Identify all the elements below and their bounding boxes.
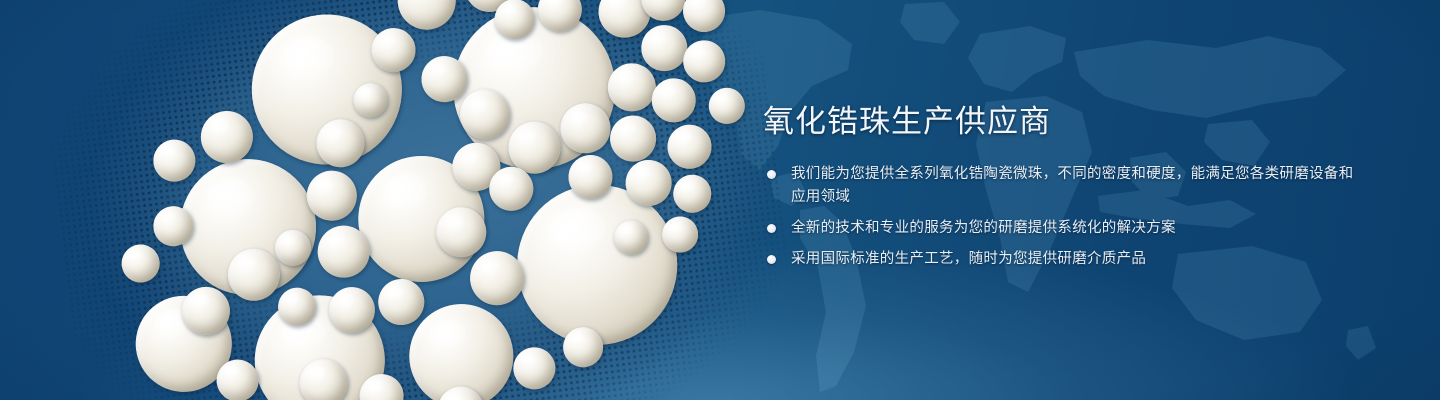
list-item-label: 采用国际标准的生产工艺，随时为您提供研磨介质产品 — [791, 251, 1146, 267]
page-title: 氧化锆珠生产供应商 — [763, 104, 1363, 141]
hero-banner: 氧化锆珠生产供应商 我们能为您提供全系列氧化锆陶瓷微珠，不同的密度和硬度，能满足… — [0, 0, 1440, 400]
feature-list: 我们能为您提供全系列氧化锆陶瓷微珠，不同的密度和硬度，能满足您各类研磨设备和应用… — [763, 163, 1363, 271]
bullet-dot-icon — [767, 170, 776, 179]
list-item-label: 全新的技术和专业的服务为您的研磨提供系统化的解决方案 — [791, 220, 1176, 236]
list-item: 采用国际标准的生产工艺，随时为您提供研磨介质产品 — [763, 248, 1363, 271]
list-item: 我们能为您提供全系列氧化锆陶瓷微珠，不同的密度和硬度，能满足您各类研磨设备和应用… — [763, 163, 1363, 209]
bead-cluster — [33, 0, 806, 400]
list-item-label: 我们能为您提供全系列氧化锆陶瓷微珠，不同的密度和硬度，能满足您各类研磨设备和应用… — [791, 166, 1353, 205]
bullet-dot-icon — [767, 224, 776, 233]
bullet-dot-icon — [767, 255, 776, 264]
zirconia-beads-photo — [33, 0, 806, 400]
list-item: 全新的技术和专业的服务为您的研磨提供系统化的解决方案 — [763, 217, 1363, 240]
banner-content: 氧化锆珠生产供应商 我们能为您提供全系列氧化锆陶瓷微珠，不同的密度和硬度，能满足… — [763, 104, 1363, 271]
